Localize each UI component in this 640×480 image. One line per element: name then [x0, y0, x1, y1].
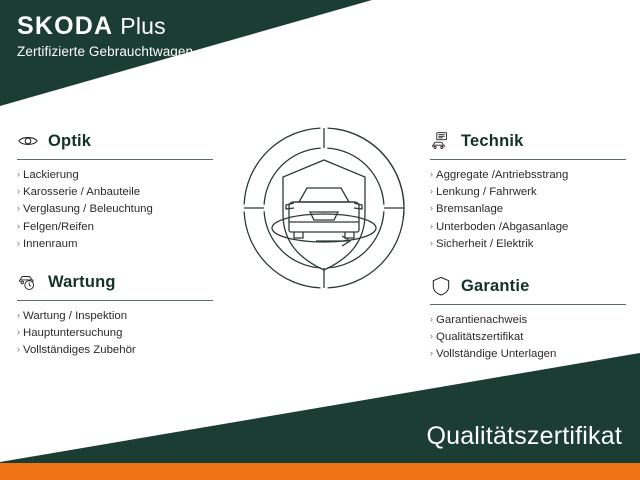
section-header-garantie: Garantie [430, 273, 626, 299]
item-list-wartung: ›Wartung / Inspektion ›Hauptuntersuchung… [17, 307, 213, 359]
brand-header: SKODA Plus Zertifizierte Gebrauchtwagen [17, 14, 193, 59]
car-service-clock-icon [17, 271, 39, 293]
eye-icon [17, 130, 39, 152]
list-item: ›Karosserie / Anbauteile [17, 183, 213, 200]
car-document-icon [430, 130, 452, 152]
list-item: ›Hauptuntersuchung [17, 324, 213, 341]
list-item-label: Vollständiges Zubehör [23, 344, 136, 356]
chevron-right-icon: › [17, 327, 20, 337]
chevron-right-icon: › [430, 238, 433, 248]
list-item: ›Vollständiges Zubehör [17, 341, 213, 358]
list-item-label: Sicherheit / Elektrik [436, 238, 534, 250]
list-item: ›Bremsanlage [430, 200, 626, 217]
shield-icon [430, 275, 452, 297]
list-item: ›Verglasung / Beleuchtung [17, 200, 213, 217]
list-item-label: Karosserie / Anbauteile [23, 186, 140, 198]
section-divider-optik [17, 159, 213, 160]
quality-seal-emblem [238, 122, 410, 304]
section-header-wartung: Wartung [17, 269, 213, 295]
list-item-label: Verglasung / Beleuchtung [23, 203, 153, 215]
list-item-label: Aggregate /Antriebsstrang [436, 169, 568, 181]
footer-title: Qualitätszertifikat [426, 424, 622, 449]
list-item: ›Sicherheit / Elektrik [430, 235, 626, 252]
section-divider-technik [430, 159, 626, 160]
chevron-right-icon: › [17, 169, 20, 179]
list-item: ›Felgen/Reifen [17, 218, 213, 235]
chevron-right-icon: › [17, 203, 20, 213]
list-item: ›Innenraum [17, 235, 213, 252]
emblem-rings [244, 128, 404, 288]
list-item-label: Qualitätszertifikat [436, 331, 523, 343]
left-column: Optik ›Lackierung ›Karosserie / Anbautei… [17, 128, 213, 380]
list-item-label: Lackierung [23, 169, 79, 181]
orange-footer-bar [0, 463, 640, 480]
list-item: ›Aggregate /Antriebsstrang [430, 166, 626, 183]
list-item-label: Vollständige Unterlagen [436, 348, 556, 360]
chevron-right-icon: › [17, 238, 20, 248]
section-technik: Technik ›Aggregate /Antriebsstrang ›Lenk… [430, 128, 626, 252]
list-item: ›Wartung / Inspektion [17, 307, 213, 324]
chevron-right-icon: › [430, 186, 433, 196]
section-optik: Optik ›Lackierung ›Karosserie / Anbautei… [17, 128, 213, 252]
list-item: ›Vollständige Unterlagen [430, 345, 626, 362]
section-wartung: Wartung ›Wartung / Inspektion ›Hauptunte… [17, 269, 213, 359]
emblem-car-front [286, 188, 362, 238]
section-title-garantie: Garantie [461, 277, 530, 296]
item-list-garantie: ›Garantienachweis ›Qualitätszertifikat ›… [430, 311, 626, 363]
emblem-orbit [272, 214, 376, 242]
chevron-right-icon: › [17, 186, 20, 196]
list-item-label: Wartung / Inspektion [23, 310, 127, 322]
list-item: ›Lenkung / Fahrwerk [430, 183, 626, 200]
certificate-page: SKODA Plus Zertifizierte Gebrauchtwagen … [0, 0, 640, 480]
section-header-technik: Technik [430, 128, 626, 154]
list-item-label: Garantienachweis [436, 314, 527, 326]
chevron-right-icon: › [430, 314, 433, 324]
list-item: ›Unterboden /Abgasanlage [430, 218, 626, 235]
emblem-shield [283, 160, 365, 270]
item-list-optik: ›Lackierung ›Karosserie / Anbauteile ›Ve… [17, 166, 213, 252]
list-item-label: Lenkung / Fahrwerk [436, 186, 537, 198]
brand-wordmark: SKODA [17, 14, 113, 39]
brand-line: SKODA Plus [17, 14, 193, 39]
brand-subtitle: Zertifizierte Gebrauchtwagen [17, 45, 193, 59]
list-item-label: Innenraum [23, 238, 77, 250]
list-item-label: Felgen/Reifen [23, 221, 94, 233]
item-list-technik: ›Aggregate /Antriebsstrang ›Lenkung / Fa… [430, 166, 626, 252]
section-title-technik: Technik [461, 132, 524, 151]
chevron-right-icon: › [17, 310, 20, 320]
chevron-right-icon: › [430, 203, 433, 213]
list-item-label: Unterboden /Abgasanlage [436, 221, 568, 233]
section-garantie: Garantie ›Garantienachweis ›Qualitätszer… [430, 273, 626, 363]
section-title-optik: Optik [48, 132, 91, 151]
right-column: Technik ›Aggregate /Antriebsstrang ›Lenk… [430, 128, 626, 384]
chevron-right-icon: › [17, 344, 20, 354]
chevron-right-icon: › [430, 221, 433, 231]
chevron-right-icon: › [430, 348, 433, 358]
chevron-right-icon: › [430, 169, 433, 179]
section-title-wartung: Wartung [48, 273, 116, 292]
list-item: ›Qualitätszertifikat [430, 328, 626, 345]
list-item-label: Hauptuntersuchung [23, 327, 122, 339]
brand-plus-label: Plus [120, 15, 166, 38]
chevron-right-icon: › [17, 221, 20, 231]
list-item: ›Lackierung [17, 166, 213, 183]
chevron-right-icon: › [430, 331, 433, 341]
section-divider-wartung [17, 300, 213, 301]
section-divider-garantie [430, 304, 626, 305]
list-item-label: Bremsanlage [436, 203, 503, 215]
section-header-optik: Optik [17, 128, 213, 154]
list-item: ›Garantienachweis [430, 311, 626, 328]
